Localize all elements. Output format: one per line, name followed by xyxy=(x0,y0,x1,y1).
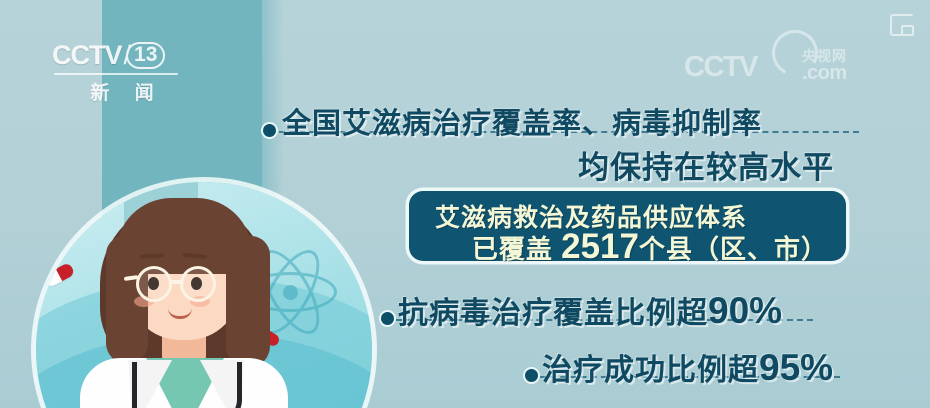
broadcast-graphic-stage: CCTV / 13 新 闻 CCTV 央视网 .com xyxy=(0,0,930,408)
bullet-point-stat-2 xyxy=(523,367,540,384)
bullet-point-stat-1 xyxy=(379,310,396,327)
channel-network-label: CCTV xyxy=(52,40,122,71)
atom-nucleus xyxy=(283,285,298,300)
doctor-illustration xyxy=(36,182,372,408)
callout-county-count: 2517 xyxy=(561,227,639,266)
callout-suffix-label: 个县（区、市） xyxy=(639,234,828,264)
illustration-circle-backdrop xyxy=(36,182,372,408)
stat-1-text: 抗病毒治疗覆盖比例超 xyxy=(398,297,708,330)
headline-line-1: 全国艾滋病治疗覆盖率、病毒抑制率 xyxy=(282,100,762,142)
eyeglasses-lens-right-icon xyxy=(180,266,216,302)
callout-line-2: 已覆盖 2517个县（区、市） xyxy=(472,227,828,267)
channel-number-badge: 13 xyxy=(126,42,165,69)
cctv-com-watermark: CCTV 央视网 .com xyxy=(684,38,874,82)
eyeglasses-lens-left-icon xyxy=(136,266,172,302)
channel-logo: CCTV / 13 新 闻 xyxy=(52,38,192,96)
headline-line-2: 均保持在较高水平 xyxy=(578,142,834,187)
statistic-callout-box: 艾滋病救治及药品供应体系 已覆盖 2517个县（区、市） xyxy=(409,191,846,261)
stethoscope-tube-left-icon xyxy=(132,362,166,408)
stat-line-1: 抗病毒治疗覆盖比例超90% xyxy=(398,288,782,332)
doctor-figure xyxy=(84,192,284,408)
eyeglasses-bridge xyxy=(170,280,184,284)
capsule-pill-red-icon xyxy=(42,262,75,288)
callout-prefix-label: 已覆盖 xyxy=(472,234,553,264)
watermark-network-label: CCTV xyxy=(684,52,757,82)
channel-logo-row: CCTV / 13 xyxy=(52,38,192,72)
stethoscope-tube-right-icon xyxy=(208,362,242,408)
channel-logo-underline xyxy=(54,73,178,75)
bullet-point-headline xyxy=(261,122,278,139)
watermark-domain-label: .com xyxy=(802,62,847,85)
picture-in-picture-icon xyxy=(890,14,914,36)
stat-1-value: 90% xyxy=(708,290,782,331)
stat-line-2: 治疗成功比例超95% xyxy=(542,345,833,389)
channel-name-label: 新 闻 xyxy=(52,78,192,105)
stat-2-text: 治疗成功比例超 xyxy=(542,354,759,387)
doctor-hair-top xyxy=(116,198,252,274)
stat-2-value: 95% xyxy=(759,347,833,388)
pip-inner-frame xyxy=(901,25,914,36)
